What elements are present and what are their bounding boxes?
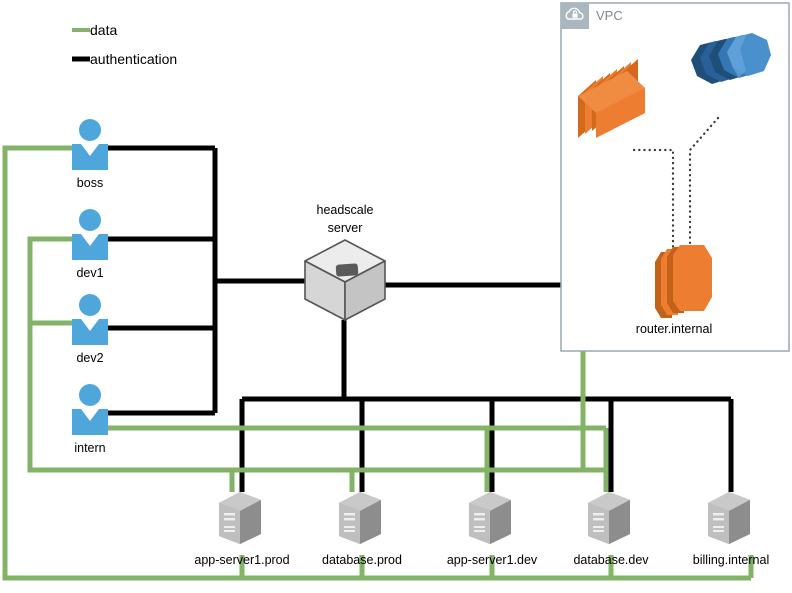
legend: data authentication [0,0,792,593]
legend-label-data: data [90,22,117,38]
legend-item-authentication: authentication [72,51,177,67]
legend-item-data: data [72,22,117,38]
legend-label-authentication: authentication [90,51,177,67]
network-diagram: VPC [0,0,792,593]
